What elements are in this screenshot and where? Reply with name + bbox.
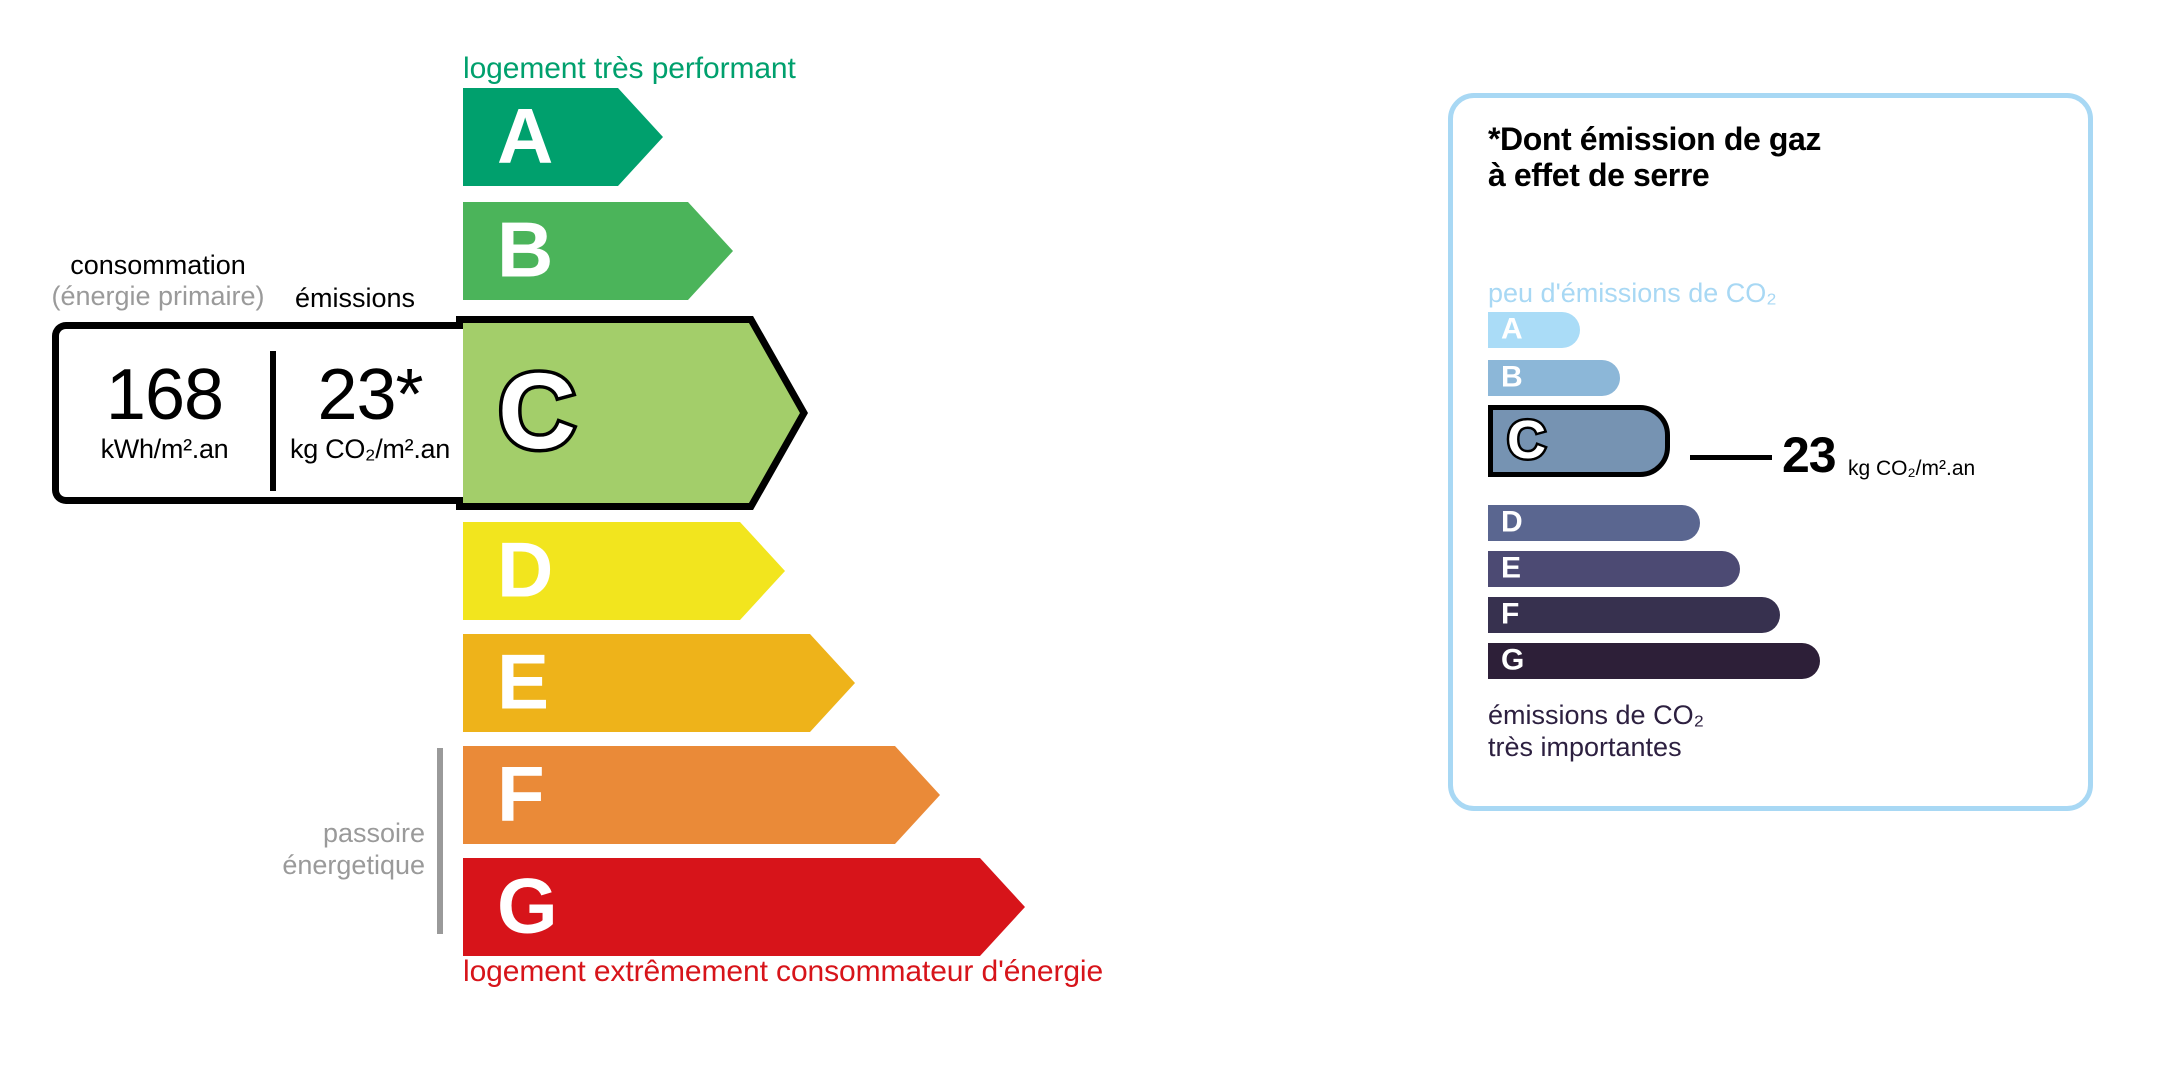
emissions-value: 23* <box>317 361 422 430</box>
co2-bottom-label: émissions de CO₂ très importantes <box>1488 700 1704 764</box>
consumption-header-main: consommation <box>70 250 246 280</box>
consumption-header-sub: (énergie primaire) <box>43 281 273 312</box>
emissions-unit: kg CO₂/m².an <box>290 434 450 465</box>
co2-bar-f: F <box>1488 597 1780 633</box>
ghg-panel-title: *Dont émission de gaz à effet de serre <box>1488 122 1821 194</box>
energy-band-b: B <box>463 202 733 300</box>
ghg-panel-title-line2: à effet de serre <box>1488 157 1709 193</box>
co2-bottom-label-line1: émissions de CO₂ <box>1488 700 1704 730</box>
energy-band-c-shape <box>456 316 808 510</box>
co2-bar-g: G <box>1488 643 1820 679</box>
co2-bar-e-letter: E <box>1501 553 1521 583</box>
passoire-bracket <box>437 748 443 934</box>
energy-band-e-shape <box>463 634 855 732</box>
energy-band-c-selected[interactable]: C <box>456 316 808 510</box>
energy-band-g: G <box>463 858 1025 956</box>
passoire-label-line1: passoire <box>323 818 425 848</box>
co2-bar-d: D <box>1488 505 1700 541</box>
emissions-header-label: émissions <box>290 283 420 314</box>
energy-band-g-shape <box>463 858 1025 956</box>
co2-bar-a: A <box>1488 312 1580 348</box>
energy-band-b-shape <box>463 202 733 300</box>
co2-callout-value: 23 <box>1782 430 1836 480</box>
consumption-value-cell: 168 kWh/m².an <box>59 329 270 497</box>
energy-band-a-shape <box>463 88 663 186</box>
passoire-label-line2: énergetique <box>282 850 425 880</box>
consumption-header-label: consommation (énergie primaire) <box>43 250 273 312</box>
consumption-unit: kWh/m².an <box>101 434 229 465</box>
consumption-value: 168 <box>106 361 223 430</box>
co2-bar-b-letter: B <box>1501 362 1523 392</box>
co2-bottom-label-line2: très importantes <box>1488 732 1682 762</box>
energy-band-d: D <box>463 522 785 620</box>
value-box: 168 kWh/m².an 23* kg CO₂/m².an <box>52 322 463 504</box>
energy-band-d-shape <box>463 522 785 620</box>
co2-bar-c-letter: C <box>1507 413 1546 467</box>
passoire-label: passoire énergetique <box>230 818 425 882</box>
co2-bar-g-letter: G <box>1501 645 1524 675</box>
co2-top-label: peu d'émissions de CO₂ <box>1488 278 1777 309</box>
energy-bottom-label: logement extrêmement consommateur d'éner… <box>463 955 1103 989</box>
energy-band-e: E <box>463 634 855 732</box>
energy-top-label: logement très performant <box>463 52 796 86</box>
co2-bar-e: E <box>1488 551 1740 587</box>
co2-callout-line <box>1690 455 1772 460</box>
co2-bar-d-letter: D <box>1501 507 1523 537</box>
emissions-value-cell: 23* kg CO₂/m².an <box>276 329 464 497</box>
co2-callout-unit: kg CO₂/m².an <box>1848 458 1975 479</box>
co2-bar-b: B <box>1488 360 1620 396</box>
co2-bar-c-selected[interactable]: C <box>1488 405 1670 477</box>
energy-band-a: A <box>463 88 663 186</box>
energy-band-f: F <box>463 746 940 844</box>
ghg-panel-title-line1: *Dont émission de gaz <box>1488 121 1821 157</box>
dpe-energy-label: logement très performant A B C D E <box>0 0 2169 1079</box>
energy-band-f-shape <box>463 746 940 844</box>
co2-bar-f-letter: F <box>1501 599 1519 629</box>
co2-bar-a-letter: A <box>1501 314 1523 344</box>
